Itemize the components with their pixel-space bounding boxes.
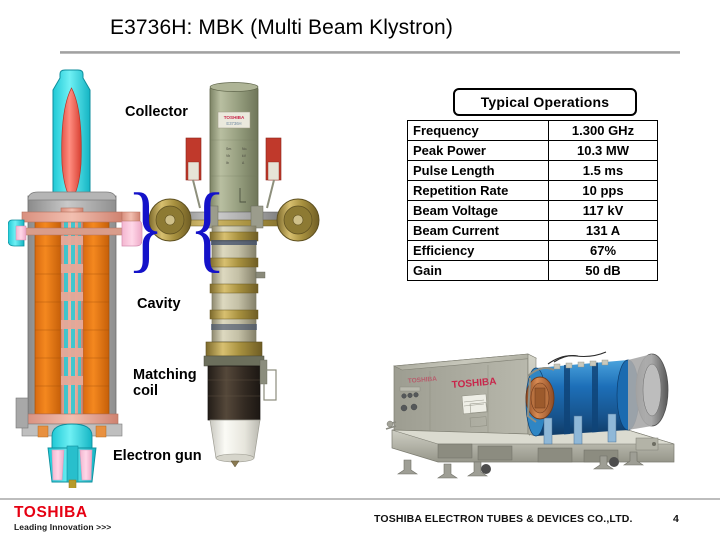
table-row: Peak Power 10.3 MW — [408, 141, 658, 161]
typical-operations-heading: Typical Operations — [453, 88, 637, 116]
table-row: Beam Voltage 117 kV — [408, 201, 658, 221]
svg-text:Ib: Ib — [226, 161, 229, 165]
label-electron-gun: Electron gun — [113, 448, 202, 464]
klystron-tube-photo: TOSHIBA E3736H Ser.No. VbkV IbA — [148, 80, 320, 480]
page-title: E3736H: MBK (Multi Beam Klystron) — [60, 16, 680, 40]
toshiba-tagline: Leading Innovation >>> — [14, 522, 111, 532]
table-row: Beam Current 131 A — [408, 221, 658, 241]
page-number: 4 — [673, 513, 679, 525]
label-matching-coil: Matching coil — [133, 367, 197, 399]
table-row: Repetition Rate 10 pps — [408, 181, 658, 201]
spec-parameter: Repetition Rate — [408, 181, 549, 201]
spec-parameter: Gain — [408, 261, 549, 281]
table-row: Frequency 1.300 GHz — [408, 121, 658, 141]
svg-text:No.: No. — [242, 147, 247, 151]
svg-text:Ser.: Ser. — [226, 147, 232, 151]
spec-value: 10 pps — [549, 181, 658, 201]
specifications-table: Frequency 1.300 GHz Peak Power 10.3 MW P… — [407, 120, 658, 281]
spec-value: 1.5 ms — [549, 161, 658, 181]
spec-parameter: Pulse Length — [408, 161, 549, 181]
title-divider — [60, 51, 680, 54]
table-row: Pulse Length 1.5 ms — [408, 161, 658, 181]
typical-operations-label: Typical Operations — [481, 94, 610, 110]
toshiba-brand-text: TOSHIBA — [14, 505, 111, 521]
spec-value: 67% — [549, 241, 658, 261]
footer-divider — [0, 498, 720, 500]
klystron-assembly-photo: TOSHIBA TOSHIBA — [378, 338, 700, 488]
svg-text:E3736H: E3736H — [226, 121, 241, 126]
spec-value: 50 dB — [549, 261, 658, 281]
table-row: Efficiency 67% — [408, 241, 658, 261]
spec-parameter: Efficiency — [408, 241, 549, 261]
spec-parameter: Frequency — [408, 121, 549, 141]
spec-value: 10.3 MW — [549, 141, 658, 161]
table-row: Gain 50 dB — [408, 261, 658, 281]
toshiba-logo: TOSHIBA Leading Innovation >>> — [14, 505, 111, 532]
svg-text:Vb: Vb — [226, 154, 230, 158]
svg-text:TOSHIBA: TOSHIBA — [224, 115, 245, 120]
spec-parameter: Beam Current — [408, 221, 549, 241]
spec-value: 131 A — [549, 221, 658, 241]
footer-company-name: TOSHIBA ELECTRON TUBES & DEVICES CO.,LTD… — [374, 513, 633, 525]
spec-value: 1.300 GHz — [549, 121, 658, 141]
spec-value: 117 kV — [549, 201, 658, 221]
slide-canvas: E3736H: MBK (Multi Beam Klystron) — [0, 0, 720, 540]
spec-parameter: Beam Voltage — [408, 201, 549, 221]
label-collector: Collector — [125, 104, 188, 120]
spec-parameter: Peak Power — [408, 141, 549, 161]
label-cavity: Cavity — [137, 296, 181, 312]
